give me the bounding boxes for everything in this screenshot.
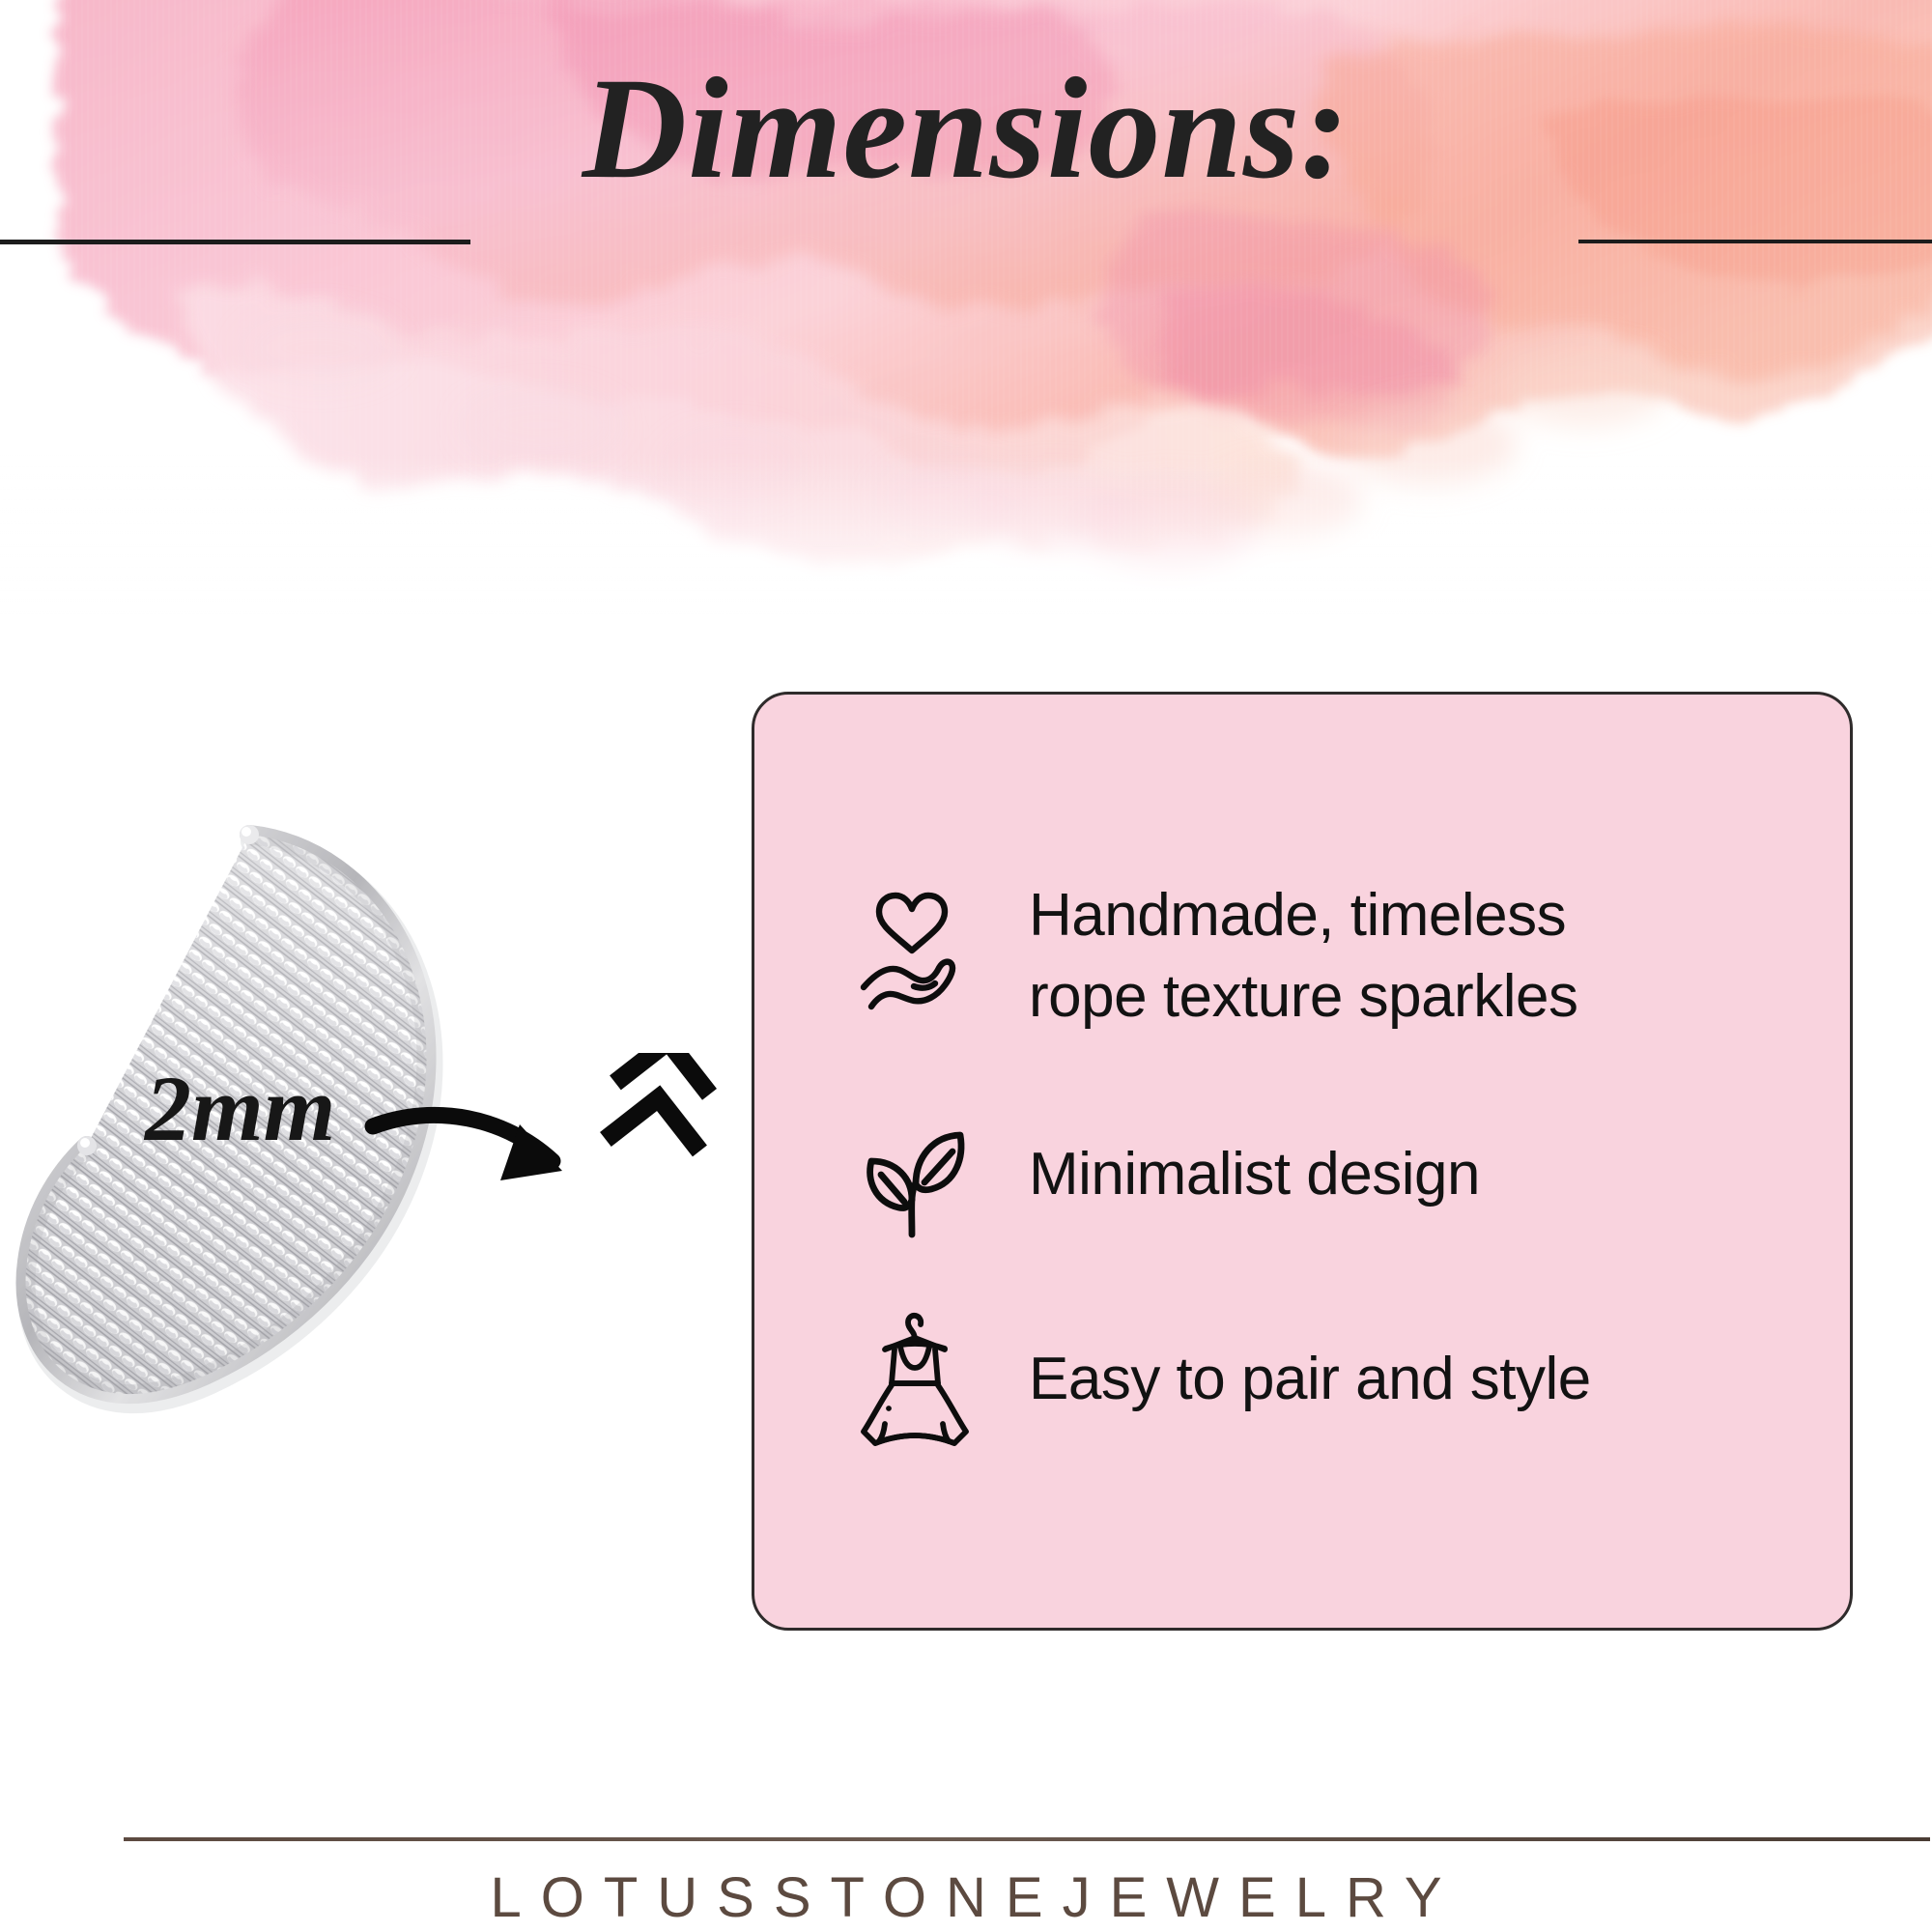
footer-rule	[124, 1837, 1930, 1841]
feature-label-line2: rope texture sparkles	[1029, 963, 1577, 1030]
watercolor-fade-lower	[174, 286, 1297, 566]
feature-label: Easy to pair and style	[1029, 1339, 1591, 1420]
brand-name: LOTUSSTONEJEWELRY	[0, 1864, 1932, 1932]
hand-holding-heart-icon	[853, 889, 977, 1024]
feature-label: Minimalist design	[1029, 1134, 1480, 1215]
feature-list: Handmade, timeless rope texture sparkles	[754, 695, 1850, 1628]
page-title: Dimensions:	[0, 56, 1932, 201]
sprout-plant-icon	[853, 1107, 977, 1242]
feature-row: Handmade, timeless rope texture sparkles	[853, 875, 1798, 1037]
feature-card: Handmade, timeless rope texture sparkles	[752, 692, 1853, 1631]
feature-label: Handmade, timeless rope texture sparkles	[1029, 875, 1577, 1037]
feature-label-line1: Handmade, timeless	[1029, 882, 1566, 949]
header-rule-right	[1578, 240, 1932, 243]
header-rule-left	[0, 240, 470, 244]
watercolor-drips	[241, 313, 1671, 573]
dimension-annotation: 2mm	[135, 1053, 753, 1275]
dress-hanger-icon	[853, 1312, 977, 1447]
feature-row: Easy to pair and style	[853, 1312, 1798, 1447]
feature-row: Minimalist design	[853, 1107, 1798, 1242]
caliper-bracket-icon	[589, 1053, 728, 1179]
curved-arrow-icon	[373, 1115, 562, 1180]
